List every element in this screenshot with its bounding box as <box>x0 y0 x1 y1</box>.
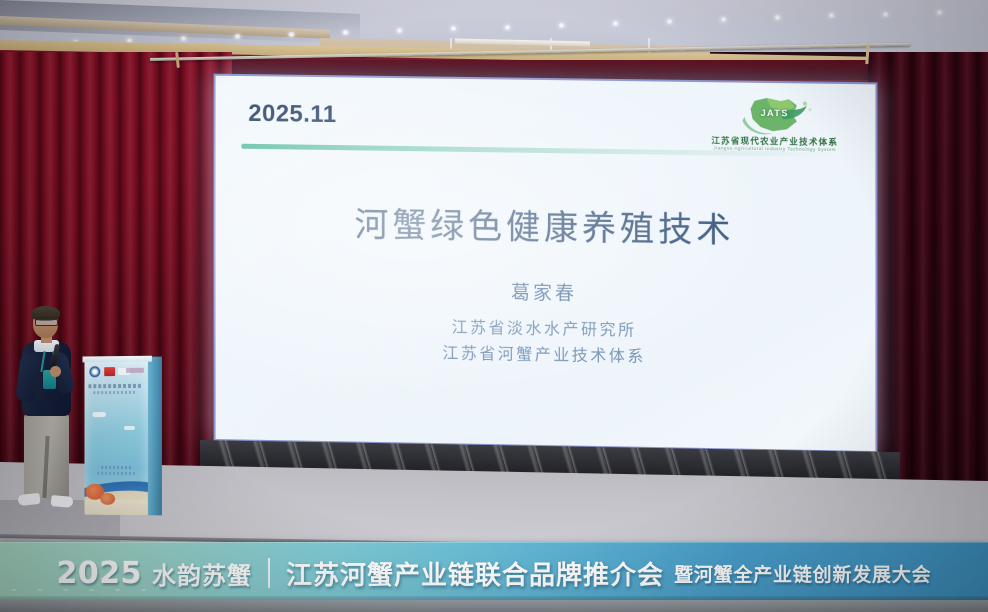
spotlight-icon <box>666 19 673 24</box>
spotlight-icon <box>936 10 943 15</box>
slide-title: 河蟹绿色健康养殖技术 <box>214 195 878 254</box>
slide-date: 2025.11 <box>248 100 336 129</box>
podium-top-surface <box>83 356 152 363</box>
jats-logo: JATS 江苏省现代农业产业技术体系 Jiangsu Agricultural … <box>710 94 839 158</box>
spotlight-icon <box>612 21 619 26</box>
jats-name-en: Jiangsu Agricultural Industry Technology… <box>710 145 839 152</box>
speaker-shoe-right <box>51 495 74 508</box>
speaker-hand <box>50 366 61 377</box>
banner-sub-title: 暨河蟹全产业链创新发展大会 <box>674 560 931 587</box>
slide-author: 葛家春 <box>214 273 878 311</box>
banner-main-title: 江苏河蟹产业链联合品牌推介会 <box>286 555 664 592</box>
conference-stage-photo: 2025.11 JATS 江苏省现代农业产业技术体系 Jiangsu Agric… <box>0 0 988 612</box>
podium <box>84 360 161 516</box>
spotlight-icon <box>234 34 241 39</box>
podium-logo-icon <box>89 366 100 377</box>
spotlight-icon <box>882 12 889 17</box>
speaker-figure <box>10 308 82 513</box>
podium-wordmark <box>126 368 144 373</box>
speaker-shoe-left <box>17 493 40 506</box>
podium-logo-icon <box>104 367 115 376</box>
podium-headline-text <box>88 384 141 388</box>
podium-front-panel <box>84 360 147 516</box>
spotlight-icon <box>558 23 565 28</box>
podium-subhead-text <box>93 391 137 394</box>
event-banner: 2025 水韵苏蟹 江苏河蟹产业链联合品牌推介会 暨河蟹全产业链创新发展大会 <box>0 542 988 604</box>
podium-beach-graphic <box>84 500 147 516</box>
banner-slogan: 水韵苏蟹 <box>152 556 252 591</box>
crab-illustration-icon <box>100 493 115 505</box>
banner-wave-decoration <box>6 584 156 596</box>
podium-cloud-icon <box>92 412 106 417</box>
podium-date-text <box>101 466 131 469</box>
spotlight-icon <box>180 36 187 41</box>
podium-side-panel <box>147 357 162 516</box>
podium-cloud-icon <box>124 426 135 430</box>
podium-venue-text <box>97 472 135 475</box>
banner-divider <box>268 558 270 588</box>
projection-screen: 2025.11 JATS 江苏省现代农业产业技术体系 Jiangsu Agric… <box>214 74 878 453</box>
glasses-icon <box>35 319 58 326</box>
foreground-floor <box>0 600 988 612</box>
jats-acronym: JATS <box>710 107 839 119</box>
spotlight-icon <box>504 25 511 30</box>
